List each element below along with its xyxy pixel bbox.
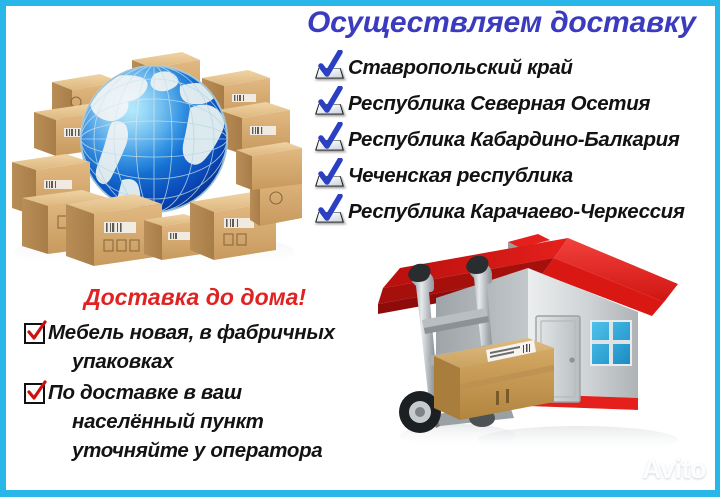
region-label: Республика Кабардино-Балкария	[348, 128, 680, 152]
blue-check-box-icon	[314, 53, 346, 83]
red-checkbox-icon	[24, 383, 45, 404]
feature-text: По доставке в ваш населённый пункт уточн…	[48, 378, 322, 465]
list-item: Мебель новая, в фабричных упаковках	[24, 318, 374, 376]
list-item: Республика Карачаево-Черкессия	[314, 194, 714, 230]
list-item: Чеченская республика	[314, 158, 714, 194]
blue-check-box-icon	[314, 197, 346, 227]
subtitle: Доставка до дома!	[84, 284, 306, 311]
list-item: Ставропольский край	[314, 50, 714, 86]
avito-watermark-text: Avito	[642, 456, 706, 483]
list-item: По доставке в ваш населённый пункт уточн…	[24, 378, 374, 465]
globe-and-parcels-illustration	[4, 4, 302, 280]
feature-line-2: населённый пункт	[48, 407, 322, 436]
delivery-advertisement-banner: Осуществляем доставку Ставропольский кра…	[0, 0, 720, 497]
border-bottom	[0, 490, 720, 497]
avito-watermark: Avito	[613, 456, 706, 483]
border-left	[0, 0, 6, 497]
border-top	[0, 0, 720, 6]
avito-logo-icon	[613, 457, 639, 483]
blue-check-box-icon	[314, 161, 346, 191]
blue-check-box-icon	[314, 89, 346, 119]
region-label: Республика Северная Осетия	[348, 92, 650, 116]
delivery-features-list: Мебель новая, в фабричных упаковках По д…	[24, 318, 374, 467]
delivery-regions-list: Ставропольский край Республика Северная …	[314, 50, 714, 230]
house-and-hand-truck-illustration	[378, 228, 698, 490]
feature-line-1: По доставке в ваш	[48, 381, 242, 404]
feature-line-1: Мебель новая, в фабричных	[48, 321, 335, 344]
feature-line-3: уточняйте у оператора	[48, 436, 322, 465]
region-label: Республика Карачаево-Черкессия	[348, 200, 685, 224]
region-label: Ставропольский край	[348, 56, 573, 80]
page-title: Осуществляем доставку	[307, 6, 707, 40]
red-checkbox-icon	[24, 323, 45, 344]
border-right	[715, 0, 720, 497]
blue-check-box-icon	[314, 125, 346, 155]
list-item: Республика Кабардино-Балкария	[314, 122, 714, 158]
list-item: Республика Северная Осетия	[314, 86, 714, 122]
region-label: Чеченская республика	[348, 164, 573, 188]
feature-line-2: упаковках	[48, 347, 335, 376]
feature-text: Мебель новая, в фабричных упаковках	[48, 318, 335, 376]
